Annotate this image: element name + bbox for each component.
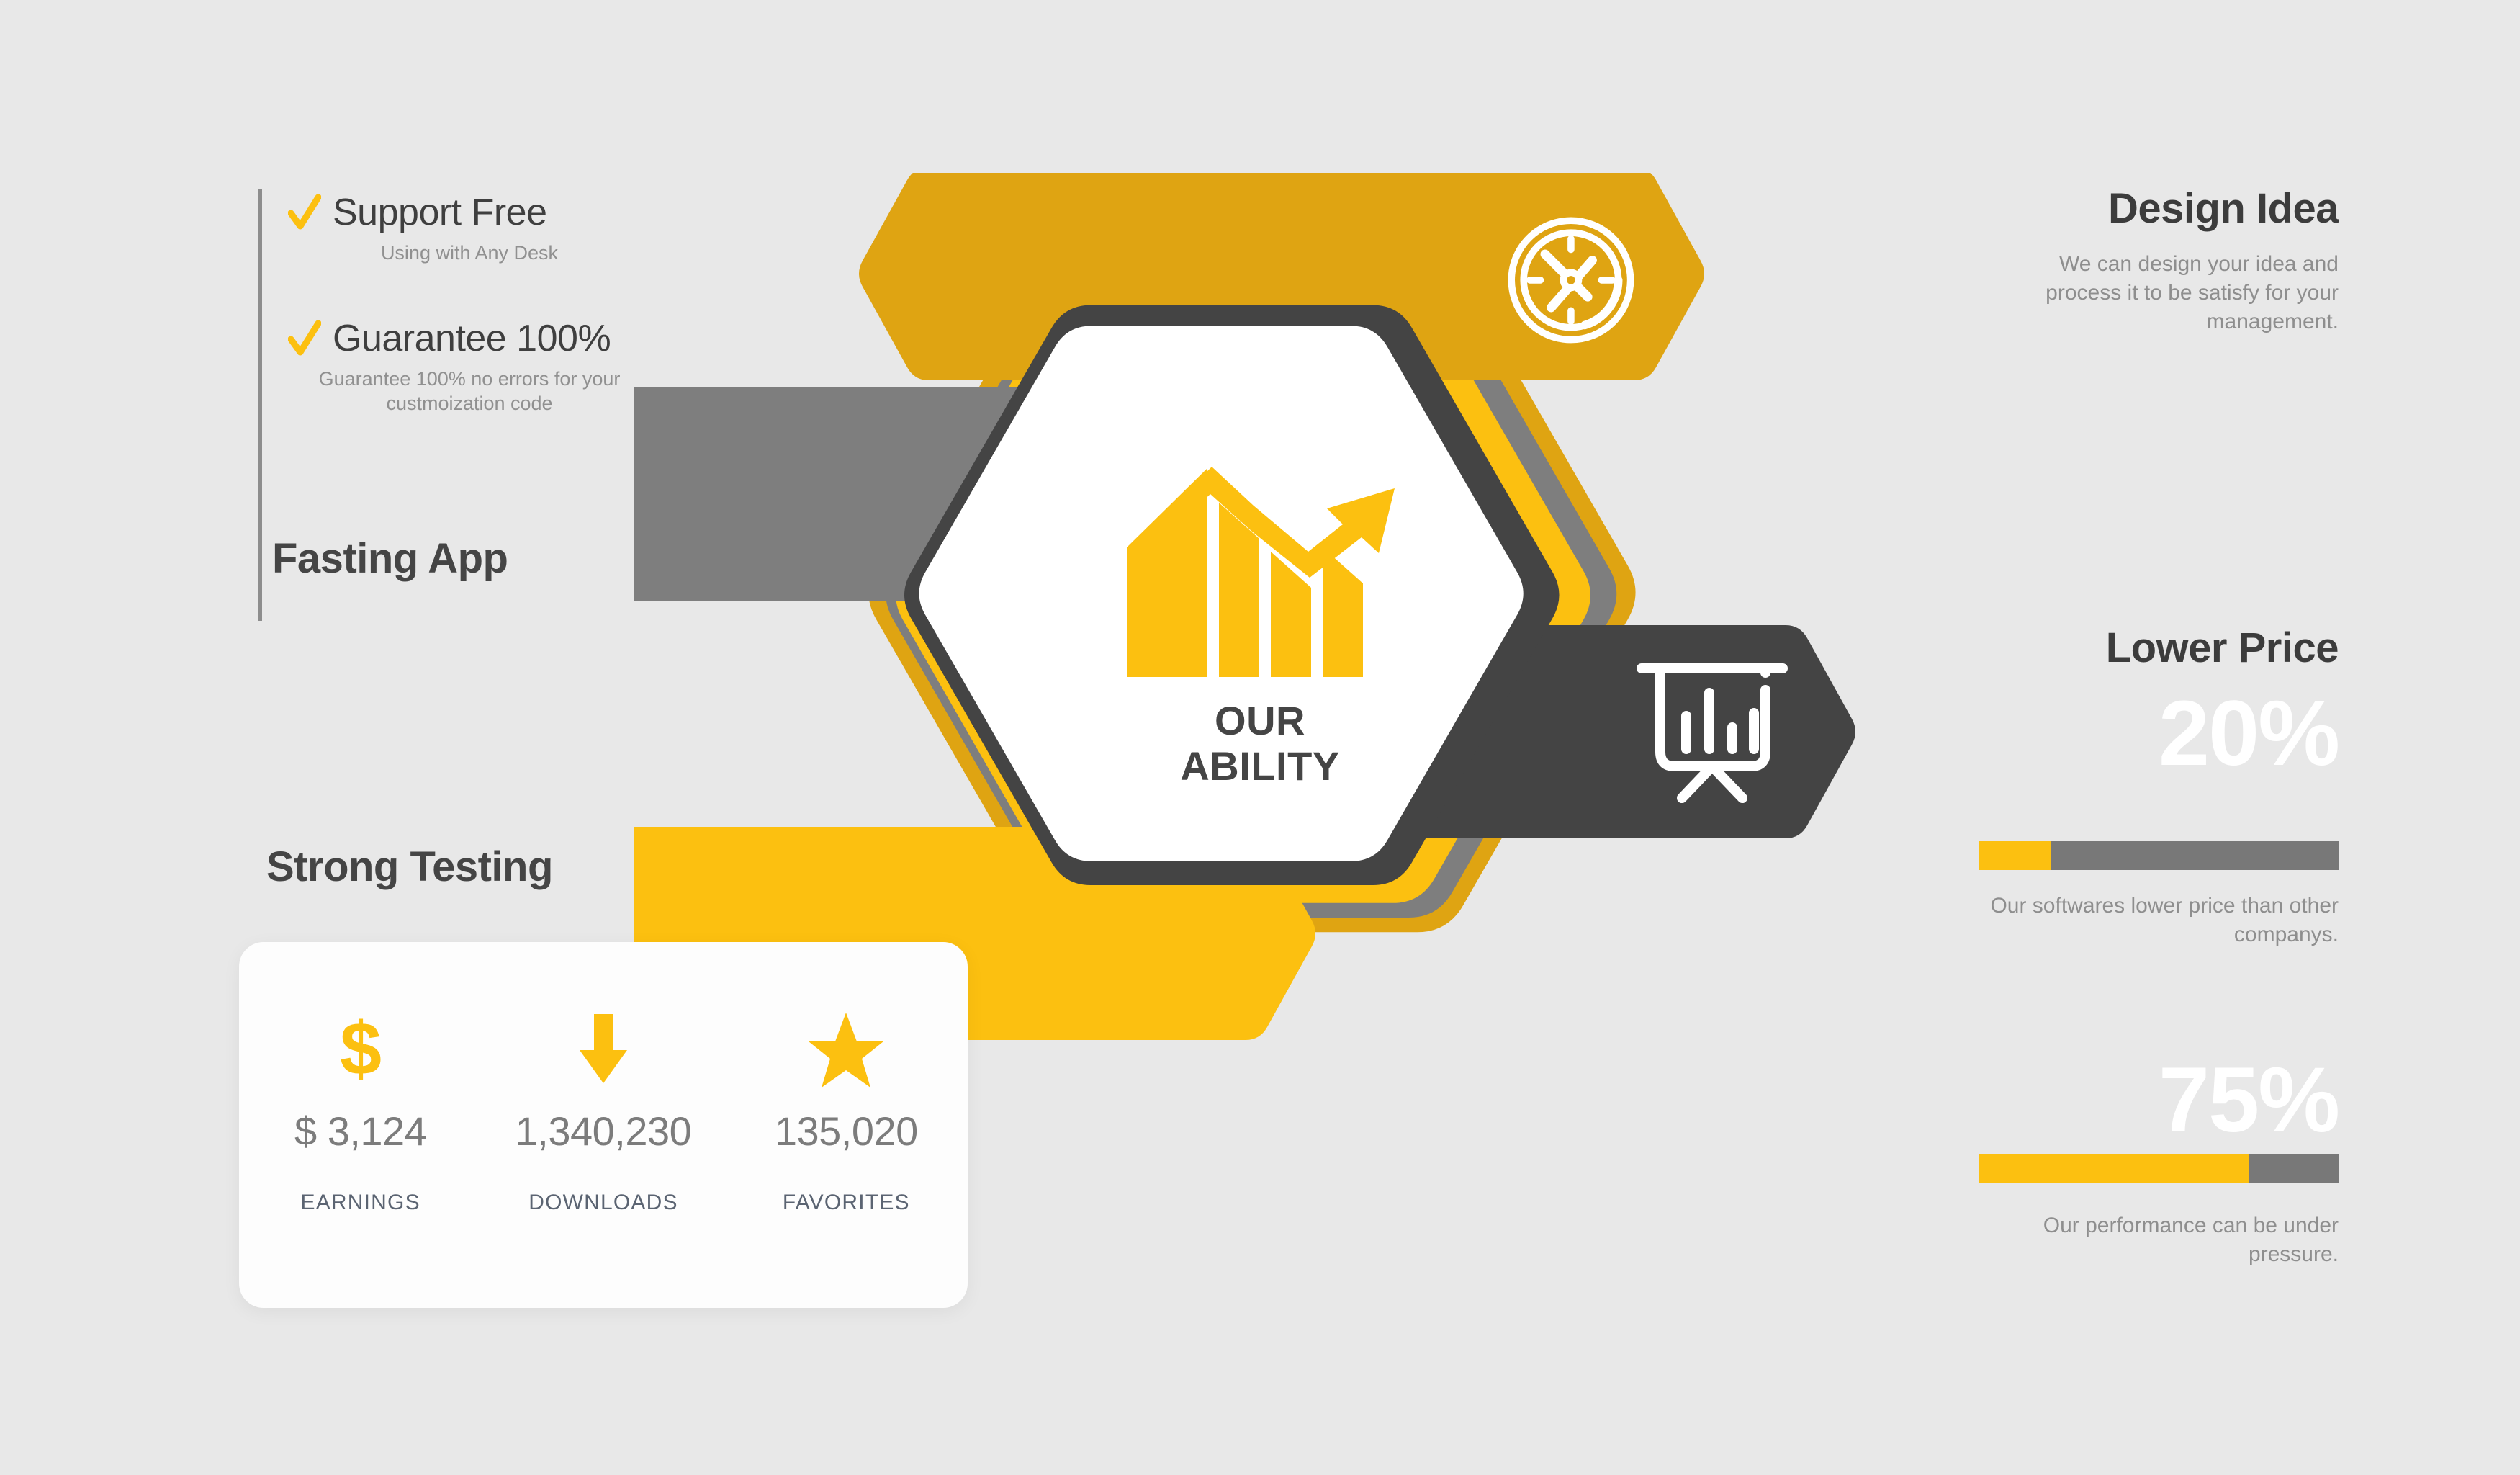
svg-text:$: $ xyxy=(340,1008,382,1089)
infographic-canvas: OUR ABILITY Support Free Using with Any … xyxy=(0,0,2520,1475)
stat-label: EARNINGS xyxy=(253,1191,469,1215)
download-arrow-icon xyxy=(495,1008,711,1089)
stat-label: FAVORITES xyxy=(738,1191,954,1215)
hex-center-label: OUR ABILITY xyxy=(1109,699,1411,789)
design-idea-body: We can design your idea and process it t… xyxy=(2000,250,2339,337)
hex-title-line2: ABILITY xyxy=(1109,744,1411,789)
stat-value: 1,340,230 xyxy=(495,1108,711,1155)
star-icon xyxy=(738,1008,954,1089)
feature-title: Support Free xyxy=(333,193,547,233)
lower-price-title: Lower Price xyxy=(2000,624,2339,672)
block-performance: 75% xyxy=(2000,1039,2339,1147)
yellow-checkmark-icon xyxy=(288,320,321,361)
label-fasting-app: Fasting App xyxy=(272,534,508,583)
lower-price-caption: Our softwares lower price than other com… xyxy=(1979,892,2339,949)
performance-body: Our performance can be under pressure. xyxy=(2043,1214,2339,1266)
feature-title: Guarantee 100% xyxy=(333,319,611,359)
performance-percent: 75% xyxy=(2000,1054,2339,1147)
block-design-idea: Design Idea We can design your idea and … xyxy=(2000,184,2339,337)
left-divider-line xyxy=(258,189,262,621)
design-idea-title: Design Idea xyxy=(2000,184,2339,233)
compass-clock-icon xyxy=(1511,220,1630,339)
feature-subtitle: Guarantee 100% no errors for your custmo… xyxy=(318,367,621,416)
progress-bar-fill xyxy=(1979,841,2051,870)
stat-label: DOWNLOADS xyxy=(495,1191,711,1215)
feature-subtitle: Using with Any Desk xyxy=(318,241,621,266)
performance-caption: Our performance can be under pressure. xyxy=(1979,1211,2339,1269)
stat-favorites[interactable]: 135,020 FAVORITES xyxy=(738,1008,954,1215)
feature-list: Support Free Using with Any Desk Guarant… xyxy=(288,193,691,470)
progress-bar-performance[interactable] xyxy=(1979,1154,2339,1183)
hex-title-line1: OUR xyxy=(1109,699,1411,744)
stats-card: $ $ 3,124 EARNINGS 1,340,230 DOWNLOADS xyxy=(239,942,968,1308)
lower-price-body: Our softwares lower price than other com… xyxy=(1979,892,2339,949)
stat-earnings[interactable]: $ $ 3,124 EARNINGS xyxy=(253,1008,469,1215)
stat-downloads[interactable]: 1,340,230 DOWNLOADS xyxy=(495,1008,711,1215)
lower-price-percent: 20% xyxy=(2000,688,2339,780)
block-lower-price: Lower Price 20% xyxy=(2000,624,2339,780)
label-strong-testing: Strong Testing xyxy=(266,843,553,891)
stat-value: 135,020 xyxy=(738,1108,954,1155)
feature-item-support-free[interactable]: Support Free Using with Any Desk xyxy=(288,193,691,266)
dollar-sign-icon: $ xyxy=(253,1008,469,1089)
yellow-checkmark-icon xyxy=(288,194,321,235)
stat-value: $ 3,124 xyxy=(253,1108,469,1155)
progress-bar-lower-price[interactable] xyxy=(1979,841,2339,870)
feature-item-guarantee[interactable]: Guarantee 100% Guarantee 100% no errors … xyxy=(288,319,691,416)
progress-bar-fill xyxy=(1979,1154,2249,1183)
